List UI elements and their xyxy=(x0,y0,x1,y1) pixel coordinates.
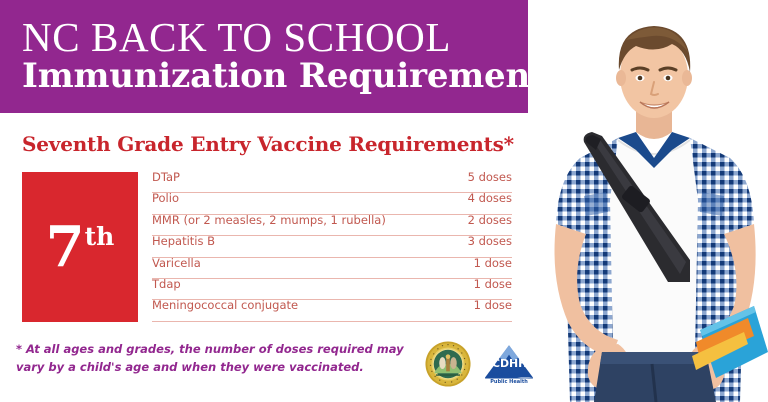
vaccine-doses: 1 dose xyxy=(474,300,512,312)
grade-number: 7 xyxy=(46,219,84,275)
vaccine-name: Hepatitis B xyxy=(152,236,215,248)
dhhs-caption-line1: North Carolina xyxy=(477,372,541,379)
vaccine-name: MMR (or 2 measles, 2 mumps, 1 rubella) xyxy=(152,215,386,227)
vaccine-doses: 1 dose xyxy=(474,258,512,270)
page-title-line2: Immunization Requirements xyxy=(22,59,564,93)
student-photo xyxy=(540,0,768,402)
vaccine-doses: 5 doses xyxy=(468,172,512,184)
vaccine-doses: 2 doses xyxy=(468,215,512,227)
logo-group: NCDHHS North Carolina Public Health xyxy=(425,339,535,391)
table-row: DTaP5 doses xyxy=(152,172,512,193)
page-title-line1: NC BACK TO SCHOOL xyxy=(22,17,451,58)
table-row: MMR (or 2 measles, 2 mumps, 1 rubella)2 … xyxy=(152,215,512,236)
vaccine-doses: 3 doses xyxy=(468,236,512,248)
grade-badge: 7 th xyxy=(22,172,138,322)
vaccine-requirements-table: DTaP5 dosesPolio4 dosesMMR (or 2 measles… xyxy=(152,172,512,322)
grade-badge-inner: 7 th xyxy=(46,219,115,275)
vaccine-name: Varicella xyxy=(152,258,201,270)
immunization-requirements-infographic: NC BACK TO SCHOOL Immunization Requireme… xyxy=(0,0,768,402)
table-row: Polio4 doses xyxy=(152,193,512,214)
grade-suffix: th xyxy=(85,224,115,249)
table-row: Hepatitis B3 doses xyxy=(152,236,512,257)
dhhs-caption: North Carolina Public Health xyxy=(477,372,541,386)
table-row: Meningococcal conjugate1 dose xyxy=(152,300,512,321)
footnote-text: * At all ages and grades, the number of … xyxy=(16,341,416,377)
nc-state-seal-icon xyxy=(425,341,471,387)
table-row: Tdap1 dose xyxy=(152,279,512,300)
ncdhhs-acronym: NCDHHS xyxy=(483,357,535,370)
vaccine-doses: 1 dose xyxy=(474,279,512,291)
vaccine-name: DTaP xyxy=(152,172,180,184)
vaccine-doses: 4 doses xyxy=(468,193,512,205)
header-band: NC BACK TO SCHOOL Immunization Requireme… xyxy=(0,0,528,113)
vaccine-name: Polio xyxy=(152,193,179,205)
dhhs-caption-line2: Public Health xyxy=(477,379,541,386)
student-illustration xyxy=(540,0,768,402)
vaccine-name: Tdap xyxy=(152,279,181,291)
section-title: Seventh Grade Entry Vaccine Requirements… xyxy=(22,134,514,154)
vaccine-name: Meningococcal conjugate xyxy=(152,300,298,312)
table-row: Varicella1 dose xyxy=(152,258,512,279)
